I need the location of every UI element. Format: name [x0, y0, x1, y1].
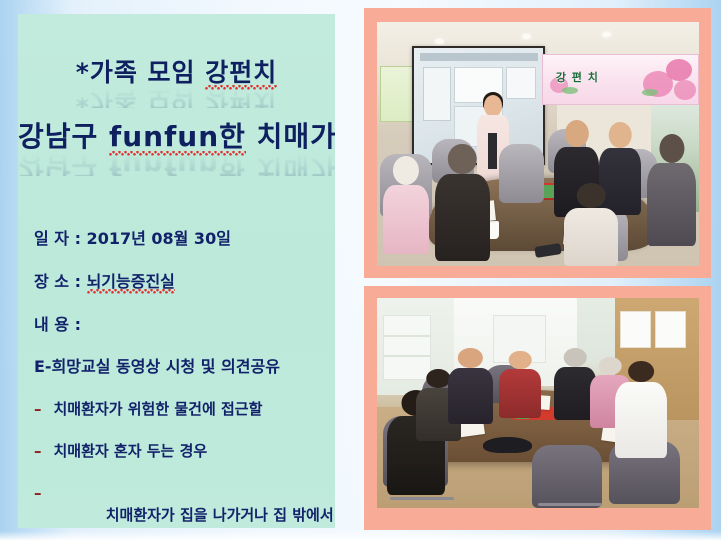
- list-item-label: 치매환자가 집을 나가거나 집 밖에서 배회하는 경우: [54, 482, 334, 528]
- head: [609, 122, 632, 148]
- torso: [647, 163, 695, 246]
- inner-top: [488, 133, 497, 169]
- title-line-2-misspelled: funfun한: [109, 120, 246, 156]
- screen-doc-a: [423, 67, 451, 122]
- list-item: – 치매환자가 집을 나가거나 집 밖에서 배회하는 경우: [34, 482, 335, 528]
- smartphone: [534, 243, 561, 258]
- list-item-label: 치매환자 혼자 두는 경우: [54, 440, 208, 462]
- torso: [448, 368, 493, 424]
- photo-frame-top: 강 편 치: [364, 8, 711, 278]
- leaf-graphic: [562, 87, 578, 94]
- head: [564, 120, 588, 147]
- place-label: 장 소 :: [34, 272, 87, 291]
- group-discussion-photo: [377, 298, 699, 508]
- head: [426, 369, 449, 388]
- chair-base: [538, 503, 602, 506]
- chair: [499, 144, 544, 203]
- title-line-2-reflection: 강남구 funfun한 치매가족: [18, 154, 335, 176]
- title-line-1-misspelled: 강펀치: [205, 58, 277, 90]
- bullet-dash-icon: –: [34, 398, 42, 420]
- list-item-line-1: 치매환자가 집을 나가거나 집 밖에서: [106, 506, 334, 524]
- torso: [499, 369, 541, 417]
- bullet-dash-icon: –: [34, 482, 42, 504]
- notice-sheet: [620, 311, 651, 349]
- shelf-board: [384, 355, 429, 357]
- attendee: [564, 183, 619, 266]
- slide-title-line-1: *가족 모임 강펀치 *가족 모임 강펀치: [18, 58, 335, 108]
- details-body: 일 자 : 2017년 08월 30일 장 소 : 뇌기능증진실 내 용 : E…: [34, 228, 335, 528]
- list-item: – 치매환자 혼자 두는 경우: [34, 440, 335, 462]
- head: [628, 361, 654, 382]
- detail-row-place: 장 소 : 뇌기능증진실: [34, 271, 335, 293]
- event-banner: 강 편 치: [542, 54, 699, 105]
- presentation-slide: *가족 모임 강펀치 *가족 모임 강펀치 강남구 funfun한 치매가족 강…: [0, 0, 721, 545]
- content-label: 내 용 :: [34, 315, 81, 334]
- place-value: 뇌기능증진실: [87, 272, 175, 294]
- chair-base: [390, 497, 454, 500]
- content-topic: E-희망교실 동영상 시청 및 의견공유: [34, 356, 335, 378]
- notice-sheet: [655, 311, 686, 349]
- ceiling-light-icon: [602, 32, 611, 37]
- head: [509, 351, 532, 370]
- torso: [435, 174, 490, 261]
- head: [458, 348, 482, 368]
- lecture-room-photo: 강 편 치: [377, 22, 699, 266]
- attendee: [647, 134, 695, 246]
- black-cap: [483, 437, 531, 454]
- banner-text: 강 편 치: [556, 69, 599, 85]
- torso: [564, 208, 619, 266]
- attendee: [435, 144, 490, 261]
- content-topic-text: E-희망교실 동영상 시청 및 의견공유: [34, 357, 280, 376]
- shelf-board: [384, 335, 429, 337]
- date-label: 일 자 :: [34, 229, 81, 248]
- torso: [383, 185, 428, 253]
- attendee: [448, 348, 493, 424]
- screen-doc-d: [506, 67, 536, 99]
- list-item: – 치매환자가 위험한 물건에 접근할: [34, 398, 335, 420]
- title-line-2-prefix: 강남구: [18, 120, 109, 153]
- title-line-1-reflection: *가족 모임 강펀치: [18, 88, 335, 108]
- title-line-2-suffix: 치매가족: [246, 120, 335, 153]
- head: [659, 134, 684, 163]
- detail-row-date: 일 자 : 2017년 08월 30일: [34, 228, 335, 250]
- date-value: 2017년 08월 30일: [81, 229, 231, 248]
- head: [564, 348, 587, 367]
- title-block: *가족 모임 강펀치 *가족 모임 강펀치 강남구 funfun한 치매가족 강…: [18, 58, 335, 176]
- attendee: [383, 156, 428, 254]
- slide-title-line-2: 강남구 funfun한 치매가족 강남구 funfun한 치매가족: [18, 120, 335, 176]
- flower-graphic: [674, 80, 696, 100]
- title-line-1-plain: *가족 모임: [76, 58, 205, 87]
- attendee: [615, 361, 667, 458]
- content-panel: *가족 모임 강펀치 *가족 모임 강펀치 강남구 funfun한 치매가족 강…: [18, 14, 335, 528]
- head: [484, 95, 502, 116]
- head: [393, 156, 419, 185]
- head: [577, 183, 605, 208]
- torso: [615, 382, 667, 457]
- attendee: [499, 351, 541, 418]
- leaf-graphic: [642, 89, 658, 96]
- bullet-dash-icon: –: [34, 440, 42, 462]
- title-line-2-text: 강남구 funfun한 치매가족: [18, 120, 335, 154]
- detail-row-content: 내 용 :: [34, 314, 335, 336]
- title-line-1-text: *가족 모임 강펀치: [18, 58, 335, 88]
- list-item-label: 치매환자가 위험한 물건에 접근할: [54, 398, 263, 420]
- photo-frame-bottom: [364, 286, 711, 530]
- chair: [532, 445, 603, 508]
- head: [448, 144, 476, 174]
- screen-toolbar: [420, 53, 538, 61]
